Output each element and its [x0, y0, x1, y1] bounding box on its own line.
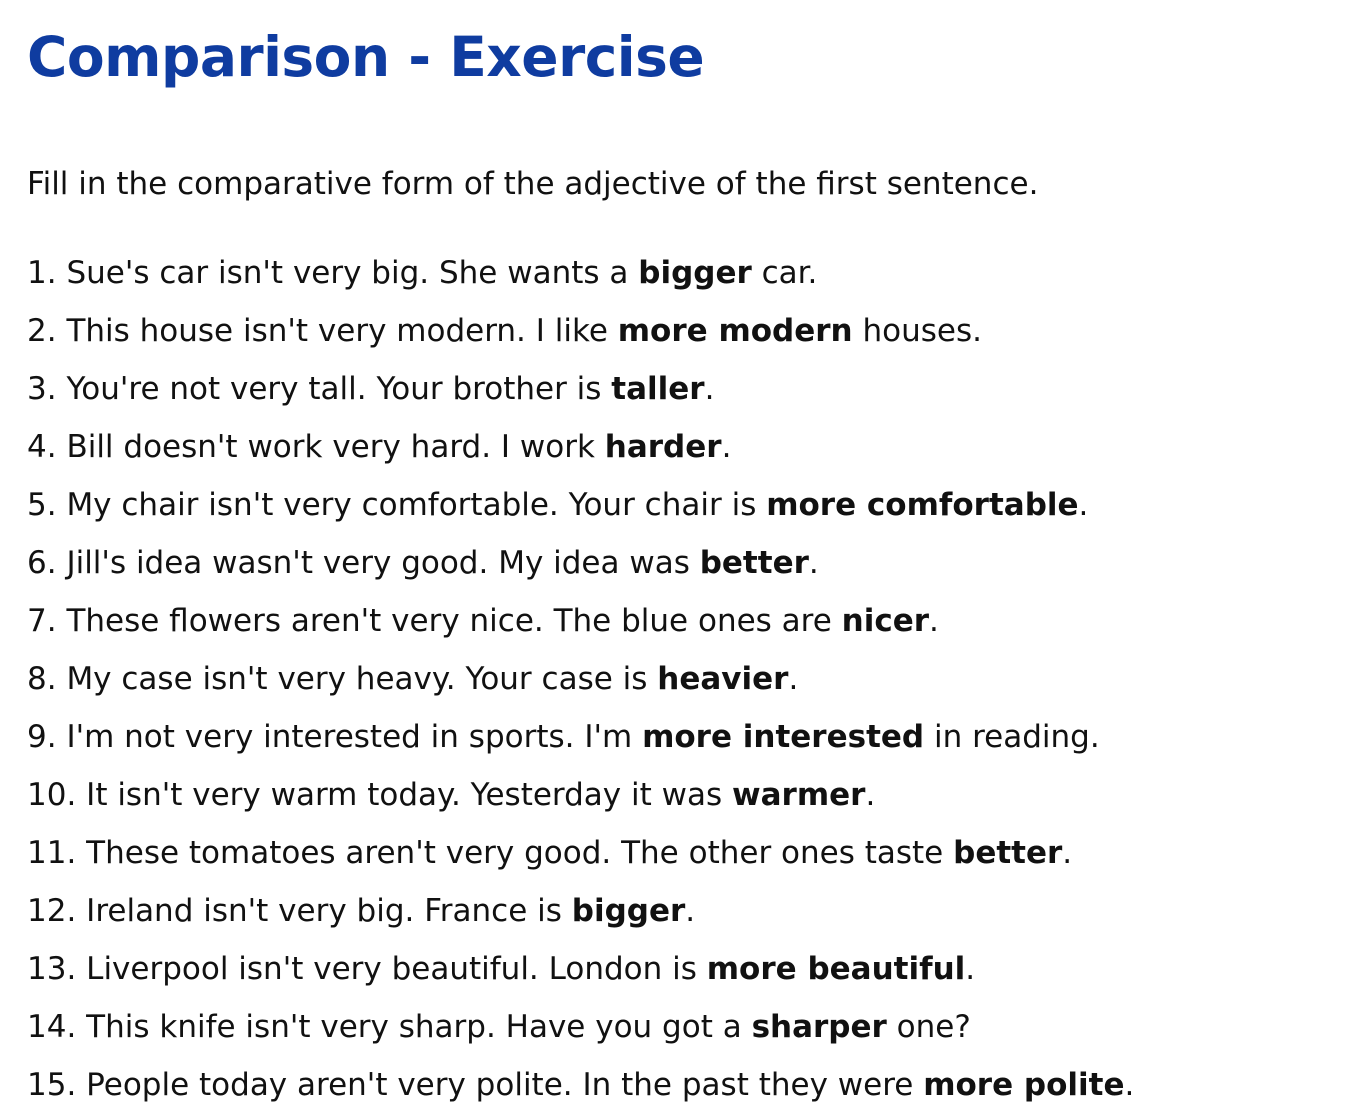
exercise-trailing-text: .	[1124, 1067, 1134, 1103]
exercise-answer: warmer	[732, 777, 865, 813]
exercise-prompt-text: Bill doesn't work very hard. I work	[66, 429, 604, 465]
exercise-item: 5. My chair isn't very comfortable. Your…	[27, 476, 1352, 534]
exercise-item: 14. This knife isn't very sharp. Have yo…	[27, 998, 1352, 1056]
exercise-number: 6.	[27, 545, 57, 581]
exercise-number: 12.	[27, 893, 76, 929]
exercise-prompt-text: I'm not very interested in sports. I'm	[66, 719, 642, 755]
exercise-trailing-text: car.	[752, 255, 818, 291]
exercise-number: 4.	[27, 429, 57, 465]
instruction-text: Fill in the comparative form of the adje…	[27, 155, 1352, 213]
exercise-item: 3. You're not very tall. Your brother is…	[27, 360, 1352, 418]
exercise-number: 3.	[27, 371, 57, 407]
exercise-prompt-text: My case isn't very heavy. Your case is	[66, 661, 657, 697]
exercise-number: 7.	[27, 603, 57, 639]
exercise-prompt-text: Ireland isn't very big. France is	[86, 893, 572, 929]
exercise-answer: more beautiful	[707, 951, 966, 987]
exercise-number: 2.	[27, 313, 57, 349]
exercise-prompt-text: People today aren't very polite. In the …	[86, 1067, 923, 1103]
exercise-answer: better	[953, 835, 1062, 871]
exercise-trailing-text: .	[788, 661, 798, 697]
exercise-item: 6. Jill's idea wasn't very good. My idea…	[27, 534, 1352, 592]
exercise-prompt-text: It isn't very warm today. Yesterday it w…	[86, 777, 732, 813]
exercise-prompt-text: These tomatoes aren't very good. The oth…	[86, 835, 953, 871]
exercise-answer: better	[700, 545, 809, 581]
exercise-prompt-text: Jill's idea wasn't very good. My idea wa…	[66, 545, 699, 581]
exercise-answer: bigger	[572, 893, 686, 929]
exercise-prompt-text: You're not very tall. Your brother is	[66, 371, 611, 407]
exercise-trailing-text: .	[809, 545, 819, 581]
exercise-number: 8.	[27, 661, 57, 697]
exercise-answer: nicer	[842, 603, 929, 639]
exercise-trailing-text: .	[1062, 835, 1072, 871]
exercise-item: 2. This house isn't very modern. I like …	[27, 302, 1352, 360]
exercise-number: 13.	[27, 951, 76, 987]
page-title: Comparison - Exercise	[0, 0, 1352, 85]
exercise-item: 7. These flowers aren't very nice. The b…	[27, 592, 1352, 650]
exercise-trailing-text: .	[1079, 487, 1089, 523]
exercise-list: 1. Sue's car isn't very big. She wants a…	[27, 244, 1352, 1114]
exercise-item: 11. These tomatoes aren't very good. The…	[27, 824, 1352, 882]
worksheet-page: Comparison - Exercise Fill in the compar…	[0, 0, 1352, 1111]
exercise-answer: harder	[605, 429, 722, 465]
exercise-answer: taller	[611, 371, 704, 407]
exercise-answer: more modern	[618, 313, 853, 349]
exercise-prompt-text: This knife isn't very sharp. Have you go…	[86, 1009, 751, 1045]
exercise-prompt-text: Liverpool isn't very beautiful. London i…	[86, 951, 707, 987]
exercise-item: 15. People today aren't very polite. In …	[27, 1056, 1352, 1114]
exercise-number: 9.	[27, 719, 57, 755]
exercise-prompt-text: Sue's car isn't very big. She wants a	[66, 255, 638, 291]
exercise-prompt-text: My chair isn't very comfortable. Your ch…	[66, 487, 766, 523]
exercise-number: 14.	[27, 1009, 76, 1045]
exercise-trailing-text: in reading.	[924, 719, 1100, 755]
exercise-number: 15.	[27, 1067, 76, 1103]
exercise-item: 1. Sue's car isn't very big. She wants a…	[27, 244, 1352, 302]
exercise-trailing-text: houses.	[853, 313, 982, 349]
exercise-trailing-text: .	[705, 371, 715, 407]
exercise-answer: sharper	[752, 1009, 887, 1045]
exercise-trailing-text: .	[722, 429, 732, 465]
exercise-item: 4. Bill doesn't work very hard. I work h…	[27, 418, 1352, 476]
exercise-number: 11.	[27, 835, 76, 871]
exercise-prompt-text: These flowers aren't very nice. The blue…	[66, 603, 841, 639]
exercise-answer: more comfortable	[766, 487, 1078, 523]
exercise-number: 1.	[27, 255, 57, 291]
exercise-trailing-text: .	[929, 603, 939, 639]
exercise-item: 8. My case isn't very heavy. Your case i…	[27, 650, 1352, 708]
exercise-answer: more interested	[642, 719, 924, 755]
exercise-answer: bigger	[638, 255, 752, 291]
exercise-item: 12. Ireland isn't very big. France is bi…	[27, 882, 1352, 940]
exercise-trailing-text: .	[865, 777, 875, 813]
exercise-item: 9. I'm not very interested in sports. I'…	[27, 708, 1352, 766]
exercise-prompt-text: This house isn't very modern. I like	[66, 313, 617, 349]
exercise-number: 10.	[27, 777, 76, 813]
exercise-answer: more polite	[923, 1067, 1124, 1103]
exercise-trailing-text: .	[685, 893, 695, 929]
exercise-item: 10. It isn't very warm today. Yesterday …	[27, 766, 1352, 824]
exercise-answer: heavier	[657, 661, 788, 697]
exercise-trailing-text: .	[965, 951, 975, 987]
worksheet-body: Fill in the comparative form of the adje…	[0, 155, 1352, 1114]
exercise-trailing-text: one?	[887, 1009, 971, 1045]
exercise-number: 5.	[27, 487, 57, 523]
exercise-item: 13. Liverpool isn't very beautiful. Lond…	[27, 940, 1352, 998]
